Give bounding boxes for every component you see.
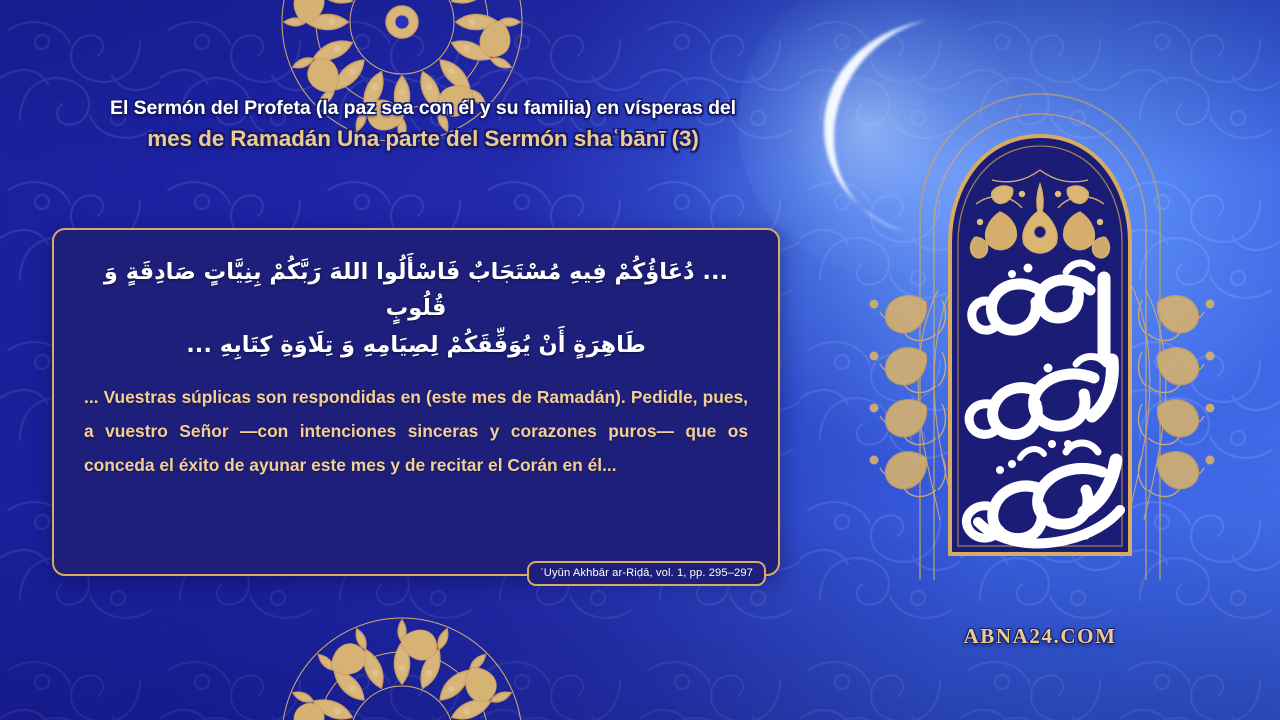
arabic-quote-line-2: طَاهِرَةٍ أَنْ يُوَفِّقَكُمْ لِصِيَامِهِ… [76, 327, 756, 363]
headline-line-2: mes de Ramadán Una parte del Sermón shaʿ… [58, 124, 788, 153]
headline-line-1: El Sermón del Profeta (la paz sea con él… [58, 96, 788, 121]
arabic-quote-line-1: ... دُعَاؤُكُمْ فِيهِ مُسْتَجَابٌ فَاسْأ… [76, 254, 756, 327]
headline: El Sermón del Profeta (la paz sea con él… [58, 96, 788, 154]
spanish-translation: ... Vuestras súplicas son respondidas en… [54, 363, 778, 483]
calligraphy-mihrab-panel [916, 92, 1164, 590]
poster-canvas: El Sermón del Profeta (la paz sea con él… [0, 0, 1280, 720]
source-citation: ʿUyūn Akhbār ar-Riḍā, vol. 1, pp. 295–29… [527, 561, 766, 586]
arabic-quote: ... دُعَاؤُكُمْ فِيهِ مُسْتَجَابٌ فَاسْأ… [54, 230, 778, 363]
site-watermark: ABNA24.COM [916, 624, 1164, 649]
quote-box: ... دُعَاؤُكُمْ فِيهِ مُسْتَجَابٌ فَاسْأ… [52, 228, 780, 576]
